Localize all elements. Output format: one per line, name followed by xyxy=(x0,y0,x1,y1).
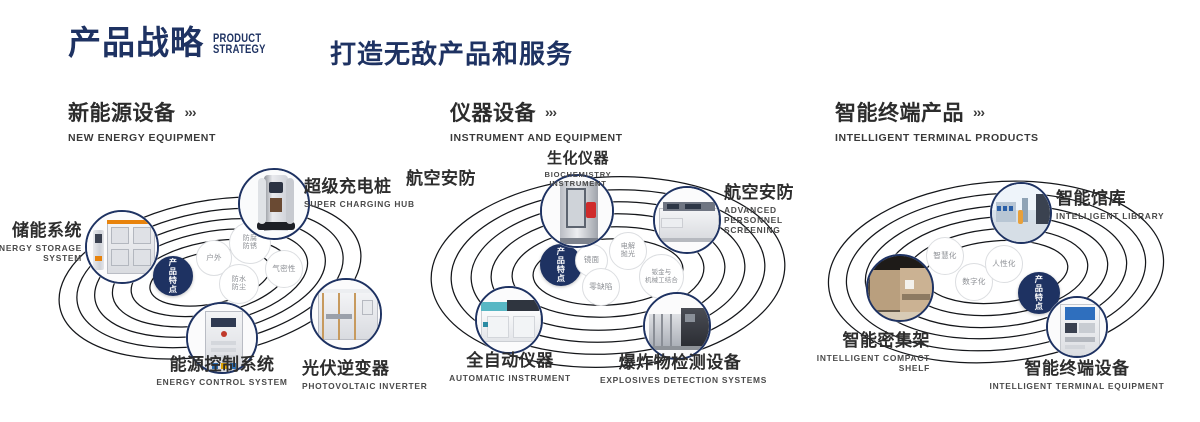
label-en: INTELLIGENT TERMINAL EQUIPMENT xyxy=(982,381,1172,391)
label-explosives-detection-systems: 爆炸物检测设备 EXPLOSIVES DETECTION SYSTEMS xyxy=(600,348,760,385)
label-automatic-instrument: 全自动仪器 AUTOMATIC INSTRUMENT xyxy=(430,346,590,383)
feature-bubble-airtight: 气密性 xyxy=(265,250,303,288)
label-cn: 储能系统 xyxy=(0,216,82,241)
section-heading-intelligent-terminal: 智能终端产品 ››› INTELLIGENT TERMINAL PRODUCTS xyxy=(835,97,1039,144)
label-cn: 超级充电桩 xyxy=(304,172,415,197)
section-title-text: 仪器设备 xyxy=(450,97,536,127)
cluster-instrument: 产品特点 镜面 电解抛光 零缺陷 钣金与机械工结合 生化仪器 BIOCHEMIS… xyxy=(400,150,820,400)
chevron-right-icon: ››› xyxy=(973,104,984,120)
section-title-cn-new-energy: 新能源设备 ››› xyxy=(68,97,216,127)
label-cn: 智能终端设备 xyxy=(982,354,1172,379)
page-title-en-line2: STRATEGY xyxy=(213,45,266,57)
label-en: SUPER CHARGING HUB xyxy=(304,199,415,209)
section-title-en-instrument: INSTRUMENT AND EQUIPMENT xyxy=(450,132,623,144)
section-title-en-new-energy: NEW ENERGY EQUIPMENT xyxy=(68,132,216,144)
label-cn: 航空安防 xyxy=(406,164,476,189)
label-energy-control-system: 能源控制系统 ENERGY CONTROL SYSTEM xyxy=(132,350,312,387)
label-en: BIOCHEMISTRY INSTRUMENT xyxy=(526,170,630,188)
chevron-right-icon: ››› xyxy=(545,104,556,120)
feature-bubble-waterproof: 防水防尘 xyxy=(219,264,259,304)
advanced-personnel-screening-photo xyxy=(655,188,719,252)
node-photo-photovoltaic-inverter[interactable] xyxy=(310,278,382,350)
label-cn: 生化仪器 xyxy=(526,147,630,168)
product-strategy-infographic: 产品战略 PRODUCT STRATEGY 打造无敌产品和服务 新能源设备 ››… xyxy=(0,0,1200,422)
photovoltaic-inverter-photo xyxy=(312,280,380,348)
intelligent-library-photo xyxy=(992,184,1050,242)
node-photo-super-charging-hub[interactable] xyxy=(238,168,310,240)
section-title-text: 智能终端产品 xyxy=(835,97,964,127)
label-biochemistry-instrument: 生化仪器 BIOCHEMISTRY INSTRUMENT xyxy=(526,147,630,188)
cluster-intelligent-terminal: 智慧化 数字化 人性化 产品特点 智能馆库 INTELLIGENT LIBRAR… xyxy=(800,150,1200,400)
feature-badge-text: 产品特点 xyxy=(169,258,178,295)
label-en: ENERGY STORAGE SYSTEM xyxy=(0,243,82,263)
intelligent-terminal-equipment-photo xyxy=(1048,298,1106,356)
super-charging-hub-photo xyxy=(240,170,308,238)
label-en: EXPLOSIVES DETECTION SYSTEMS xyxy=(600,375,760,385)
label-intelligent-library: 智能馆库 INTELLIGENT LIBRARY xyxy=(1056,184,1164,221)
feature-badge-text: 产品特点 xyxy=(557,247,566,284)
label-en: AUTOMATIC INSTRUMENT xyxy=(430,373,590,383)
energy-storage-photo xyxy=(87,212,157,282)
node-photo-intelligent-terminal-equipment[interactable] xyxy=(1046,296,1108,358)
cluster-new-energy: 产品特点 户外 防腐防锈 防水防尘 气密性 储能系统 ENERGY STORAG… xyxy=(0,150,420,400)
label-cn: 爆炸物检测设备 xyxy=(600,348,760,373)
section-title-en-intelligent-terminal: INTELLIGENT TERMINAL PRODUCTS xyxy=(835,132,1039,144)
page-title-cn: 产品战略 xyxy=(68,26,204,59)
feature-bubble-zero-defect: 零缺陷 xyxy=(582,268,620,306)
label-cn: 智能馆库 xyxy=(1056,184,1164,209)
label-en: ENERGY CONTROL SYSTEM xyxy=(132,377,312,387)
page-title-en: PRODUCT STRATEGY xyxy=(213,34,266,57)
section-title-text: 新能源设备 xyxy=(68,97,176,127)
label-cn: 全自动仪器 xyxy=(430,346,590,371)
node-photo-energy-storage-system[interactable] xyxy=(85,210,159,284)
label-cn: 能源控制系统 xyxy=(132,350,312,375)
label-aviation-security-extra: 航空安防 xyxy=(406,164,476,189)
feature-bubble-humanized: 人性化 xyxy=(985,245,1023,283)
page-subtitle: 打造无敌产品和服务 xyxy=(330,34,573,71)
page-title: 产品战略 PRODUCT STRATEGY xyxy=(68,26,277,59)
section-heading-new-energy: 新能源设备 ››› NEW ENERGY EQUIPMENT xyxy=(68,97,216,144)
chevron-right-icon: ››› xyxy=(185,104,196,120)
section-heading-instrument: 仪器设备 ››› INSTRUMENT AND EQUIPMENT xyxy=(450,97,623,144)
automatic-instrument-photo xyxy=(477,288,541,352)
label-en: INTELLIGENT LIBRARY xyxy=(1056,211,1164,221)
label-intelligent-compact-shelf: 智能密集架 INTELLIGENT COMPACT SHELF xyxy=(790,326,930,373)
node-photo-advanced-personnel-screening[interactable] xyxy=(653,186,721,254)
feature-badge-text: 产品特点 xyxy=(1035,275,1044,312)
feature-badge-primary: 产品特点 xyxy=(153,256,193,296)
label-cn: 智能密集架 xyxy=(790,326,930,351)
page-title-en-line1: PRODUCT xyxy=(213,34,266,46)
label-en: INTELLIGENT COMPACT SHELF xyxy=(790,353,930,373)
label-super-charging-hub: 超级充电桩 SUPER CHARGING HUB xyxy=(304,172,415,209)
section-title-cn-instrument: 仪器设备 ››› xyxy=(450,97,623,127)
node-photo-intelligent-compact-shelf[interactable] xyxy=(866,254,934,322)
label-energy-storage-system: 储能系统 ENERGY STORAGE SYSTEM xyxy=(0,216,82,263)
node-photo-intelligent-library[interactable] xyxy=(990,182,1052,244)
section-title-cn-intelligent-terminal: 智能终端产品 ››› xyxy=(835,97,1039,127)
intelligent-compact-shelf-photo xyxy=(868,256,932,320)
label-intelligent-terminal-equipment: 智能终端设备 INTELLIGENT TERMINAL EQUIPMENT xyxy=(982,354,1172,391)
node-photo-automatic-instrument[interactable] xyxy=(475,286,543,354)
